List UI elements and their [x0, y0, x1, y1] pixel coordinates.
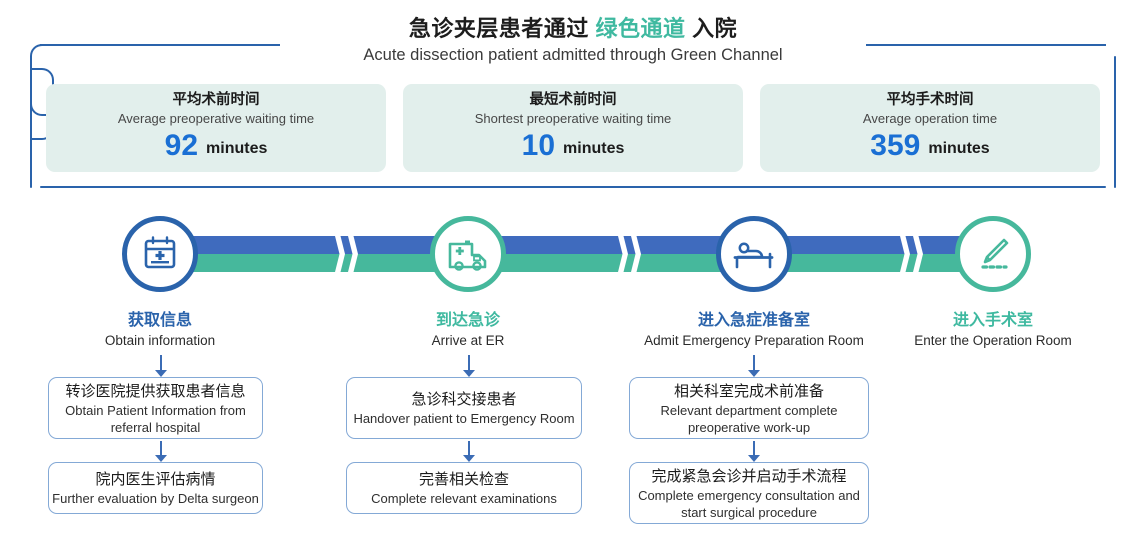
- scalpel-icon: [973, 234, 1013, 274]
- detail-box-col1-1[interactable]: 转诊医院提供获取患者信息 Obtain Patient Information …: [48, 377, 263, 439]
- metric-card-average-preop: 平均术前时间 Average preoperative waiting time…: [46, 84, 386, 172]
- detail-box-cn: 急诊科交接患者: [347, 389, 581, 410]
- detail-box-col3-1[interactable]: 相关科室完成术前准备 Relevant department complete …: [629, 377, 869, 439]
- metric-title-en: Average operation time: [760, 110, 1100, 128]
- connector-arrow-col3-top: [748, 355, 760, 377]
- detail-box-en: Complete relevant examinations: [347, 490, 581, 507]
- process-band: [150, 236, 1000, 272]
- connector-arrow-col3-mid: [748, 441, 760, 463]
- connector-arrow-col2-mid: [463, 441, 475, 463]
- title-chinese-accent: 绿色通道: [595, 16, 685, 41]
- process-band-top-stripe: [150, 236, 1000, 254]
- detail-box-cn: 相关科室完成术前准备: [630, 381, 868, 402]
- process-band-bottom-stripe: [150, 254, 1000, 272]
- metric-card-shortest-preop: 最短术前时间 Shortest preoperative waiting tim…: [403, 84, 743, 172]
- detail-box-en: Complete emergency consultation and star…: [630, 487, 868, 521]
- detail-box-cn: 院内医生评估病情: [49, 469, 262, 490]
- metric-unit: minutes: [563, 140, 624, 157]
- step-label-cn: 获取信息: [60, 310, 260, 331]
- step-label-obtain-information: 获取信息 Obtain information: [60, 310, 260, 350]
- step-label-en: Obtain information: [60, 331, 260, 350]
- step-label-emergency-preparation-room: 进入急症准备室 Admit Emergency Preparation Room: [615, 310, 893, 350]
- page-title: 急诊夹层患者通过 绿色通道 入院 Acute dissection patien…: [0, 14, 1146, 74]
- chevron-separator-2: [618, 236, 652, 272]
- detail-box-col1-2[interactable]: 院内医生评估病情 Further evaluation by Delta sur…: [48, 462, 263, 514]
- detail-box-en: Relevant department complete preoperativ…: [630, 402, 868, 436]
- hospital-bed-patient-icon: [732, 235, 776, 273]
- infographic-canvas: 急诊夹层患者通过 绿色通道 入院 Acute dissection patien…: [0, 0, 1146, 560]
- clipboard-medical-icon: [140, 234, 180, 274]
- connector-arrow-col2-top: [463, 355, 475, 377]
- detail-box-en: Further evaluation by Delta surgeon: [49, 490, 262, 507]
- step-label-cn: 进入手术室: [893, 310, 1093, 331]
- step-label-cn: 到达急诊: [368, 310, 568, 331]
- frame-bottom-edge: [40, 186, 1106, 188]
- connector-arrow-col1-top: [155, 355, 167, 377]
- step-label-en: Enter the Operation Room: [893, 331, 1093, 350]
- title-chinese: 急诊夹层患者通过 绿色通道 入院: [0, 14, 1146, 44]
- metric-value-row: 359minutes: [760, 130, 1100, 165]
- metric-value-row: 10minutes: [403, 130, 743, 165]
- detail-box-en: Obtain Patient Information from referral…: [49, 402, 262, 436]
- detail-box-col3-2[interactable]: 完成紧急会诊并启动手术流程 Complete emergency consult…: [629, 462, 869, 524]
- frame-right-edge: [1114, 56, 1116, 188]
- detail-box-cn: 转诊医院提供获取患者信息: [49, 381, 262, 402]
- detail-box-cn: 完成紧急会诊并启动手术流程: [630, 466, 868, 487]
- metric-title-en: Average preoperative waiting time: [46, 110, 386, 128]
- metric-title-cn: 平均术前时间: [46, 91, 386, 110]
- step-label-en: Arrive at ER: [368, 331, 568, 350]
- title-chinese-prefix: 急诊夹层患者通过: [409, 16, 596, 41]
- metric-value: 359: [870, 129, 920, 162]
- title-chinese-suffix: 入院: [686, 16, 738, 41]
- metric-title-cn: 最短术前时间: [403, 91, 743, 110]
- metric-title-cn: 平均手术时间: [760, 91, 1100, 110]
- ambulance-icon: [446, 234, 490, 274]
- step-circle-operation-room[interactable]: [955, 216, 1031, 292]
- step-label-arrive-at-er: 到达急诊 Arrive at ER: [368, 310, 568, 350]
- chevron-separator-1: [335, 236, 369, 272]
- metric-value: 10: [522, 129, 555, 162]
- detail-box-en: Handover patient to Emergency Room: [347, 410, 581, 427]
- frame-left-edge: [30, 56, 32, 188]
- step-label-operation-room: 进入手术室 Enter the Operation Room: [893, 310, 1093, 350]
- detail-box-col2-1[interactable]: 急诊科交接患者 Handover patient to Emergency Ro…: [346, 377, 582, 439]
- metric-unit: minutes: [928, 140, 989, 157]
- metric-value-row: 92minutes: [46, 130, 386, 165]
- connector-arrow-col1-mid: [155, 441, 167, 463]
- title-english: Acute dissection patient admitted throug…: [0, 43, 1146, 67]
- step-circle-arrive-at-er[interactable]: [430, 216, 506, 292]
- step-circle-obtain-information[interactable]: [122, 216, 198, 292]
- detail-box-cn: 完善相关检查: [347, 469, 581, 490]
- detail-box-col2-2[interactable]: 完善相关检查 Complete relevant examinations: [346, 462, 582, 514]
- metric-card-row: 平均术前时间 Average preoperative waiting time…: [46, 84, 1100, 174]
- step-label-cn: 进入急症准备室: [615, 310, 893, 331]
- metric-value: 92: [165, 129, 198, 162]
- chevron-separator-3: [900, 236, 934, 272]
- step-label-en: Admit Emergency Preparation Room: [615, 331, 893, 350]
- metric-card-average-operation: 平均手术时间 Average operation time 359minutes: [760, 84, 1100, 172]
- step-circle-emergency-preparation-room[interactable]: [716, 216, 792, 292]
- metric-unit: minutes: [206, 140, 267, 157]
- metric-title-en: Shortest preoperative waiting time: [403, 110, 743, 128]
